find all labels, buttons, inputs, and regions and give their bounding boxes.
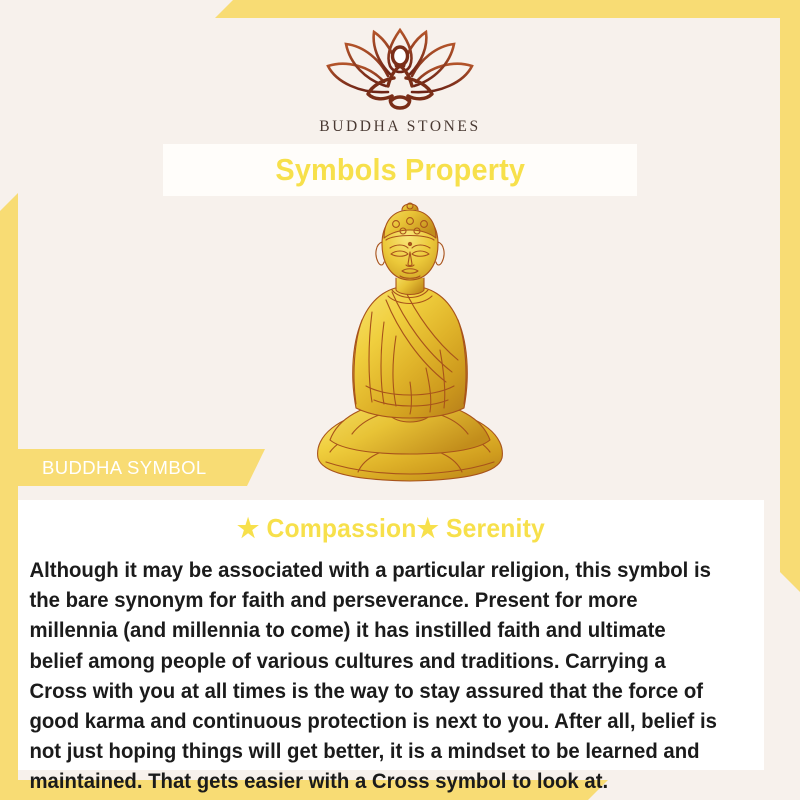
golden-seated-buddha-illustration [300, 200, 520, 500]
page-title-bar: Symbols Property [163, 144, 637, 196]
brand-wordmark: BUDDHA STONES [0, 118, 800, 136]
brand-logo: BUDDHA STONES [0, 22, 800, 136]
tagline: ★ Compassion★ Serenity [37, 513, 746, 544]
body-paragraph: Although it may be associated with a par… [18, 555, 730, 797]
section-ribbon-label: BUDDHA SYMBOL [18, 457, 207, 479]
section-ribbon: BUDDHA SYMBOL [18, 449, 265, 486]
page-title: Symbols Property [275, 152, 525, 188]
decorative-band-top [215, 0, 800, 18]
content-panel: ★ Compassion★ Serenity Although it may b… [18, 500, 764, 770]
decorative-band-left [0, 193, 18, 800]
poster-root: BUDDHA STONES Symbols Property [0, 0, 800, 800]
lotus-meditation-figure-icon [316, 22, 484, 114]
